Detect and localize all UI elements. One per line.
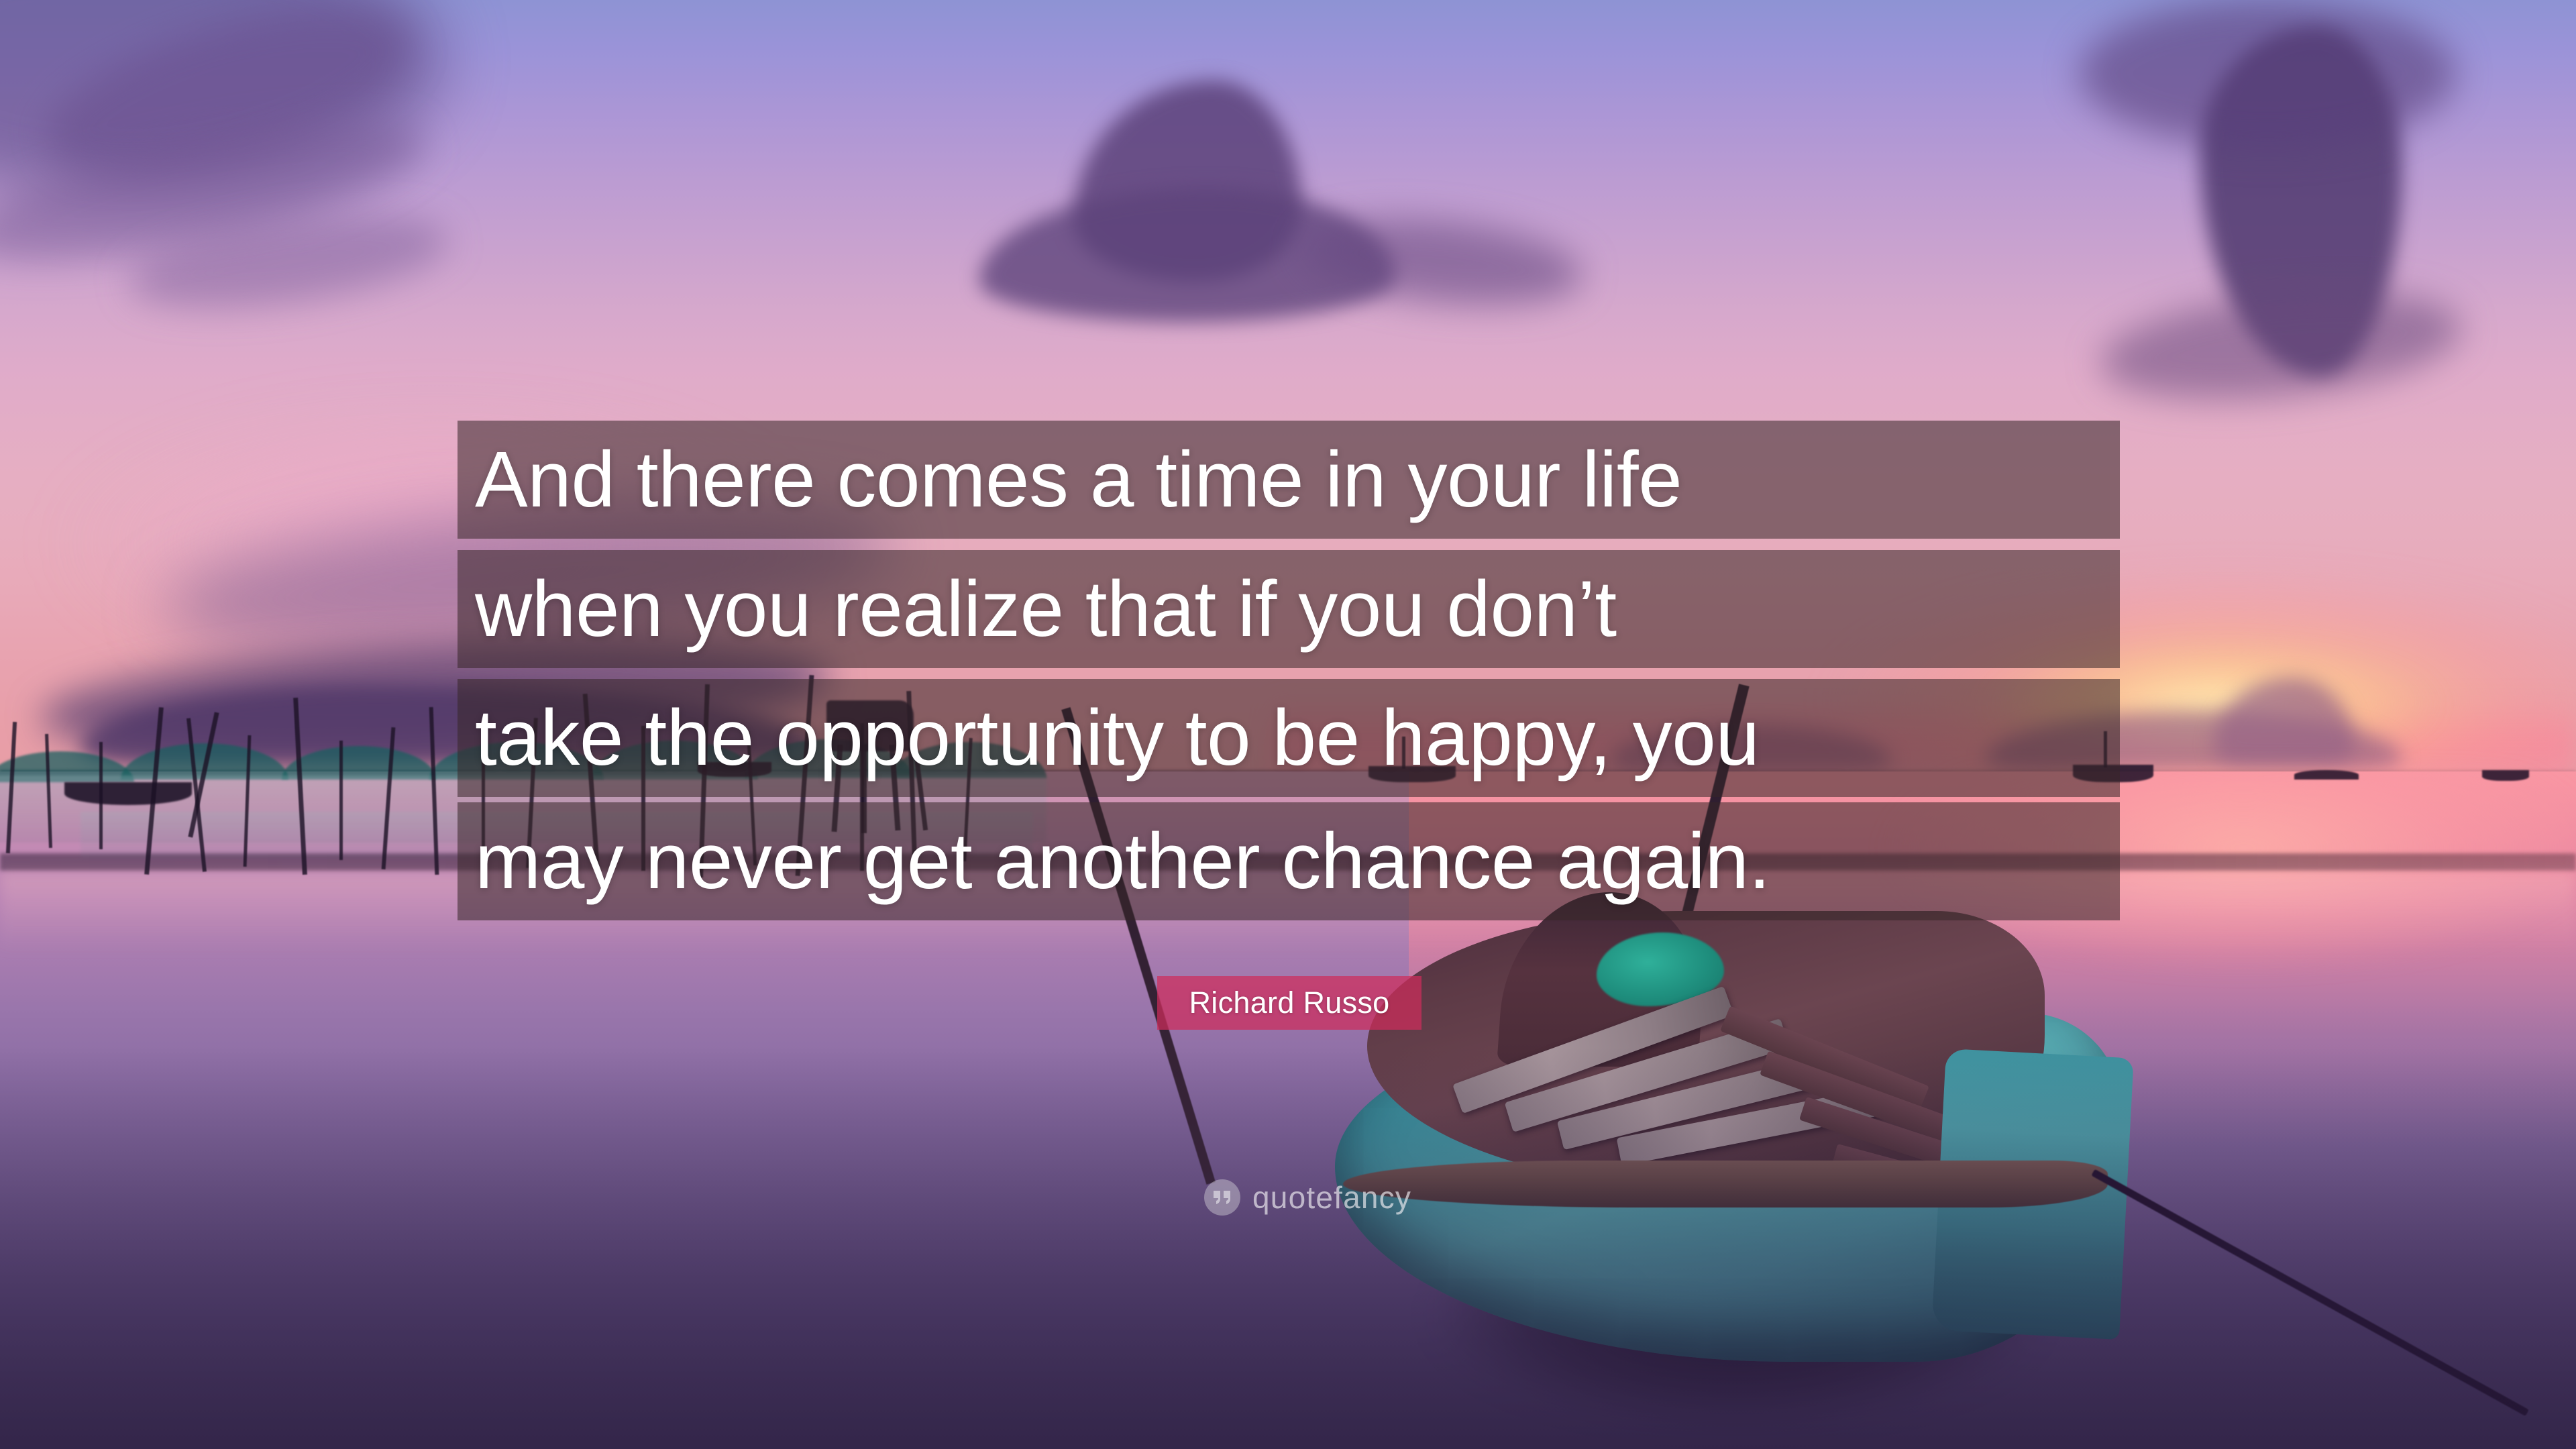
author-attribution: Richard Russo xyxy=(1157,976,1421,1030)
cloud-right-upper xyxy=(2080,0,2455,148)
far-boat-far-right xyxy=(2482,770,2529,781)
quote-line-4: may never get another chance again. xyxy=(458,802,2120,920)
watermark-brand: quotefancy xyxy=(1252,1182,1411,1213)
bamboo-stake xyxy=(339,741,343,860)
foreground-shadow xyxy=(0,1046,2576,1449)
far-islet xyxy=(2294,770,2359,780)
net-canopy xyxy=(282,746,436,780)
watermark[interactable]: quotefancy xyxy=(1204,1179,1411,1216)
quote-mark-icon xyxy=(1204,1179,1240,1216)
author-name: Richard Russo xyxy=(1189,985,1389,1020)
quote-line-2: when you realize that if you don’t xyxy=(458,550,2120,668)
quote-line-3: take the opportunity to be happy, you xyxy=(458,679,2120,797)
quote-line-1: And there comes a time in your life xyxy=(458,421,2120,539)
small-boat-left xyxy=(64,782,192,805)
quote-poster: And there comes a time in your life when… xyxy=(0,0,2576,1449)
